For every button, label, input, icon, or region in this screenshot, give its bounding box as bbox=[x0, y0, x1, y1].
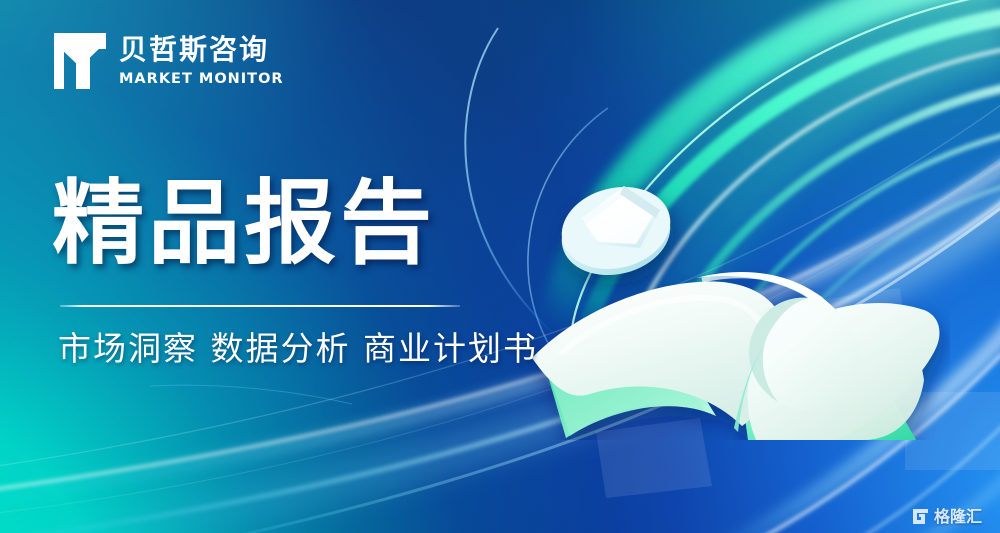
brand-logo: 贝哲斯咨询 MARKET MONITOR bbox=[54, 33, 284, 89]
gelonghui-g-mark-icon bbox=[912, 508, 929, 525]
watermark-text: 格隆汇 bbox=[934, 509, 982, 525]
report-cover-banner: 贝哲斯咨询 MARKET MONITOR 精品报告 市场洞察 数据分析 商业计划… bbox=[0, 0, 1000, 533]
market-monitor-m-mark-icon bbox=[54, 33, 106, 89]
brand-name-cn: 贝哲斯咨询 bbox=[119, 34, 284, 65]
title-divider bbox=[60, 305, 460, 307]
brand-name-en: MARKET MONITOR bbox=[119, 70, 284, 88]
page-title: 精品报告 bbox=[52, 176, 436, 273]
open-book-3d-illustration bbox=[520, 140, 950, 440]
page-subtitle: 市场洞察 数据分析 商业计划书 bbox=[58, 327, 538, 372]
brand-logo-text: 贝哲斯咨询 MARKET MONITOR bbox=[119, 34, 284, 87]
watermark: 格隆汇 bbox=[912, 508, 982, 525]
